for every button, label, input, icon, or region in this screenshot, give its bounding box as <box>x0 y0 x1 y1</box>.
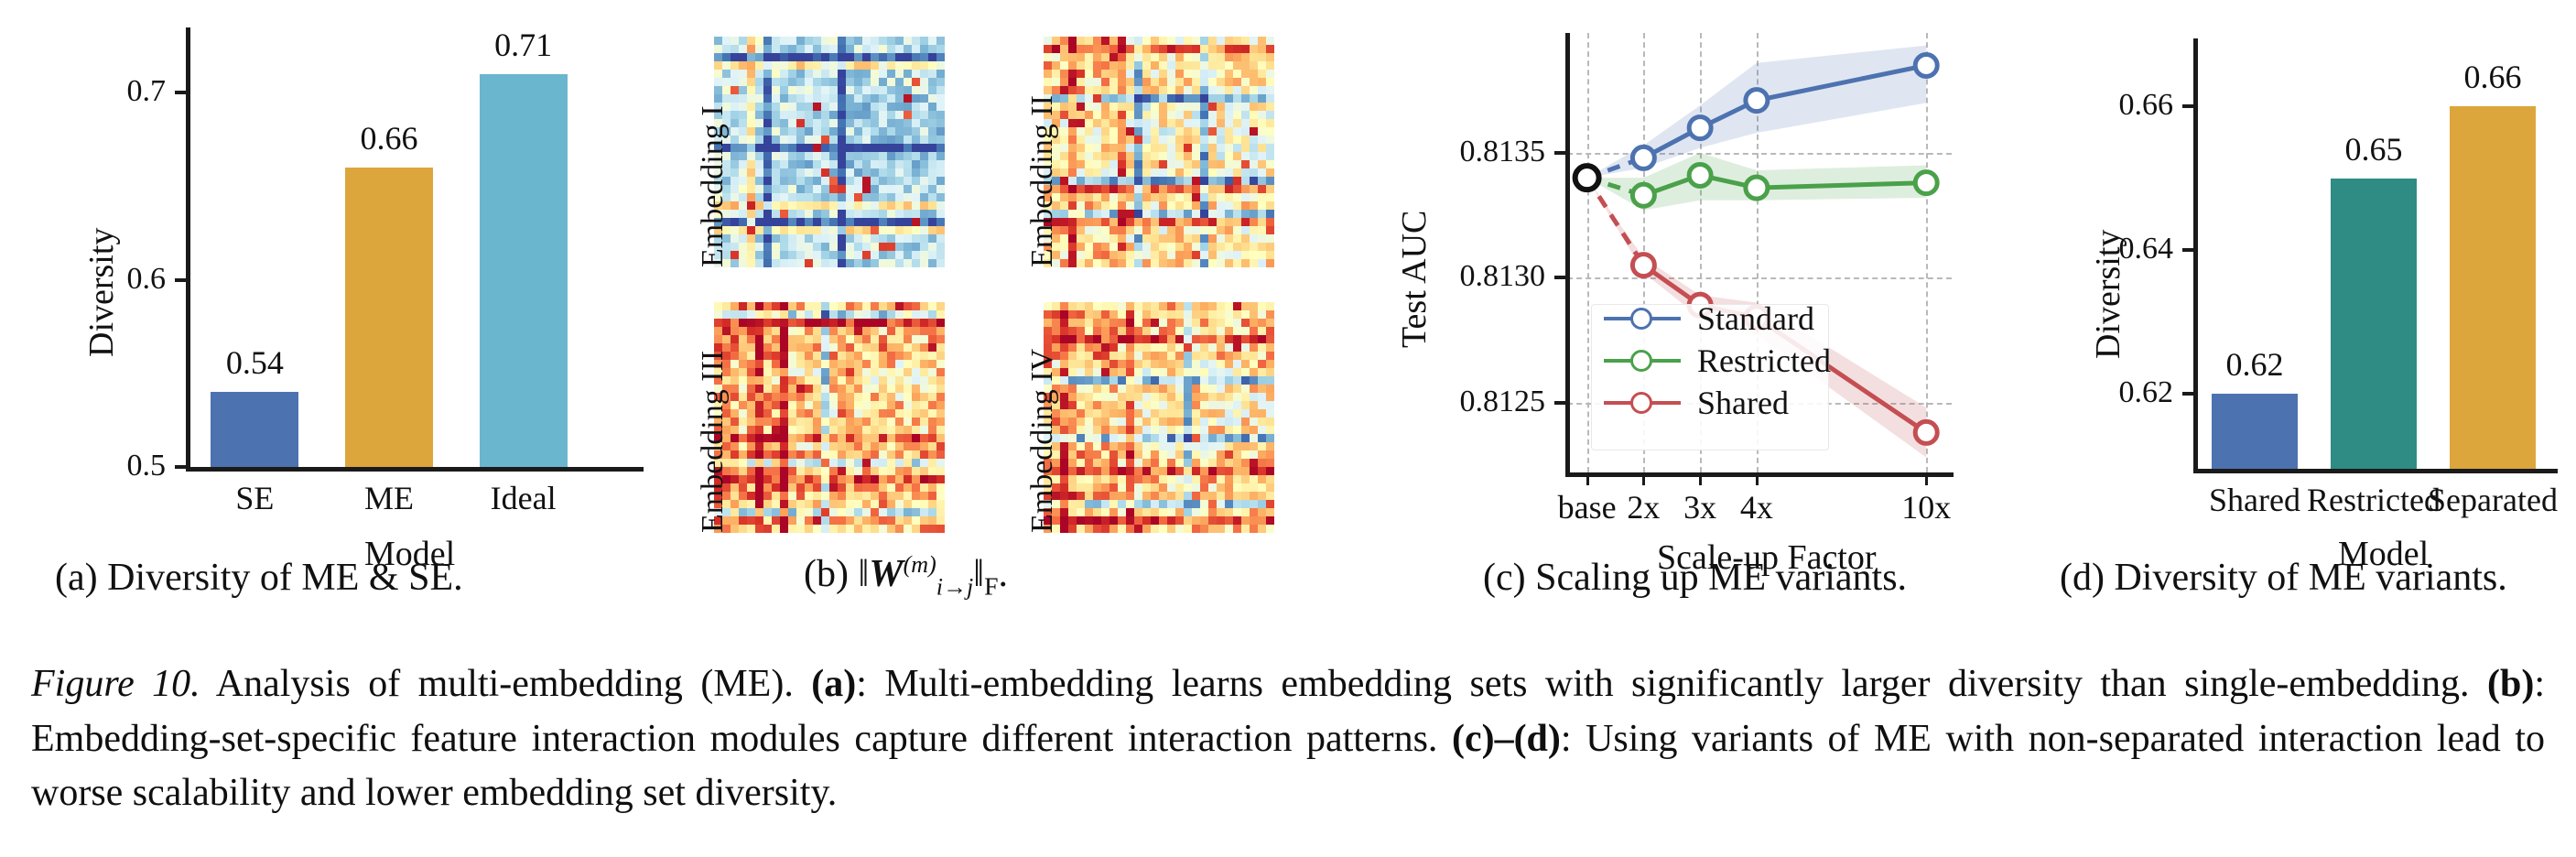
series-marker-standard <box>1632 146 1654 168</box>
series-marker-shared <box>1915 421 1937 443</box>
bar-shared <box>2212 394 2298 469</box>
panel-a-y-axis-title: Diversity <box>84 228 119 357</box>
heatmap-label-1: Embedding I <box>698 105 729 267</box>
heatmap-label-4: Embedding IV <box>1027 349 1058 533</box>
y-tick-label: 0.64 <box>2119 233 2174 265</box>
bar-value-label: 0.65 <box>2282 133 2465 166</box>
legend-marker-restricted <box>1630 350 1652 372</box>
panel-a-subcaption: (a) Diversity of ME & SE. <box>55 559 463 597</box>
figure-caption: Figure 10. Analysis of multi-embedding (… <box>31 657 2545 821</box>
caption-body-a: : Multi-embedding learns embedding sets … <box>856 663 2487 705</box>
legend-label-shared: Shared <box>1697 386 1789 419</box>
heatmap-label-2: Embedding II <box>1027 95 1058 267</box>
bar-value-label: 0.62 <box>2163 348 2346 381</box>
panel-c-y-axis-title: Test AUC <box>1397 211 1432 348</box>
caption-tag-a: (a) <box>811 663 856 705</box>
panel-c-subcaption: (c) Scaling up ME variants. <box>1483 559 1907 597</box>
heatmap-2 <box>1044 37 1274 267</box>
series-marker-shared <box>1632 255 1654 277</box>
series-marker-standard <box>1915 54 1937 76</box>
panel-c-x-axis <box>1565 472 1954 477</box>
y-tick-mark <box>175 465 188 469</box>
bar-separated <box>2450 106 2536 469</box>
y-tick-mark <box>2182 104 2195 108</box>
heatmap-canvas <box>1044 37 1274 267</box>
figure-root: Diversity Model 0.50.60.70.54SE0.66ME0.7… <box>0 0 2576 857</box>
panel-a-x-axis <box>186 467 644 472</box>
series-marker-restricted <box>1746 177 1768 199</box>
y-tick-label: 0.7 <box>127 76 167 107</box>
y-tick-mark <box>2182 392 2195 396</box>
bar-value-label: 0.71 <box>432 28 615 61</box>
panel-d-variant-diversity-bar-chart: Diversity Model 0.620.640.660.62Shared0.… <box>1996 0 2576 641</box>
series-marker-restricted <box>1915 172 1937 194</box>
bar-se <box>211 392 298 467</box>
y-tick-mark <box>2182 248 2195 252</box>
legend-marker-shared <box>1630 392 1652 414</box>
bar-me <box>345 168 433 467</box>
legend-label-standard: Standard <box>1697 302 1814 335</box>
bar-value-label: 0.66 <box>298 122 481 155</box>
base-point-marker <box>1575 166 1599 190</box>
series-marker-standard <box>1689 117 1711 139</box>
y-tick-label: 0.62 <box>2119 377 2174 408</box>
caption-tag-cd: (c)–(d) <box>1452 718 1561 760</box>
y-tick-mark <box>175 278 188 282</box>
heatmap-4 <box>1044 302 1274 533</box>
y-tick-label: 0.6 <box>127 264 167 295</box>
series-marker-restricted <box>1689 164 1711 186</box>
series-marker-standard <box>1746 90 1768 112</box>
figure-caption-intro: Analysis of multi-embedding (ME). <box>200 663 812 705</box>
heatmap-1 <box>714 37 945 267</box>
heatmap-3 <box>714 302 945 533</box>
panel-c-y-axis <box>1565 33 1570 476</box>
heatmap-canvas <box>1044 302 1274 533</box>
panel-a-diversity-bar-chart: Diversity Model 0.50.60.70.54SE0.66ME0.7… <box>0 0 641 641</box>
y-tick-label: 0.66 <box>2119 90 2174 121</box>
y-tick-label: 0.5 <box>127 450 167 482</box>
panel-b-subcaption: (b) ‖W(m)i→j‖F. <box>804 553 1008 599</box>
legend-label-restricted: Restricted <box>1697 344 1831 377</box>
panel-b-subcaption-formula: ‖W(m)i→j‖F. <box>858 553 1008 595</box>
panel-b-subcaption-prefix: (b) <box>804 553 858 595</box>
category-label-separated: Separated <box>2355 483 2576 516</box>
caption-tag-b: (b) <box>2487 663 2534 705</box>
bar-ideal <box>480 74 568 467</box>
figure-number: Figure 10. <box>31 663 200 705</box>
panel-b-interaction-heatmaps: Embedding IEmbedding IIEmbedding IIIEmbe… <box>641 0 1355 641</box>
heatmap-canvas <box>714 302 945 533</box>
heatmap-label-3: Embedding III <box>698 351 729 533</box>
panel-d-subcaption: (d) Diversity of ME variants. <box>2060 559 2507 597</box>
bar-restricted <box>2331 179 2417 469</box>
bar-value-label: 0.54 <box>163 346 346 379</box>
y-tick-mark <box>175 91 188 94</box>
panel-d-x-axis <box>2193 469 2558 473</box>
panel-c-scaling-line-chart: base2x3x4x10x0.81250.81300.8135StandardR… <box>1355 0 1996 641</box>
heatmap-canvas <box>714 37 945 267</box>
bar-value-label: 0.66 <box>2401 60 2576 93</box>
panel-d-y-axis <box>2193 38 2198 472</box>
legend-marker-standard <box>1630 308 1652 330</box>
series-marker-restricted <box>1632 184 1654 206</box>
category-label-ideal: Ideal <box>386 482 661 515</box>
